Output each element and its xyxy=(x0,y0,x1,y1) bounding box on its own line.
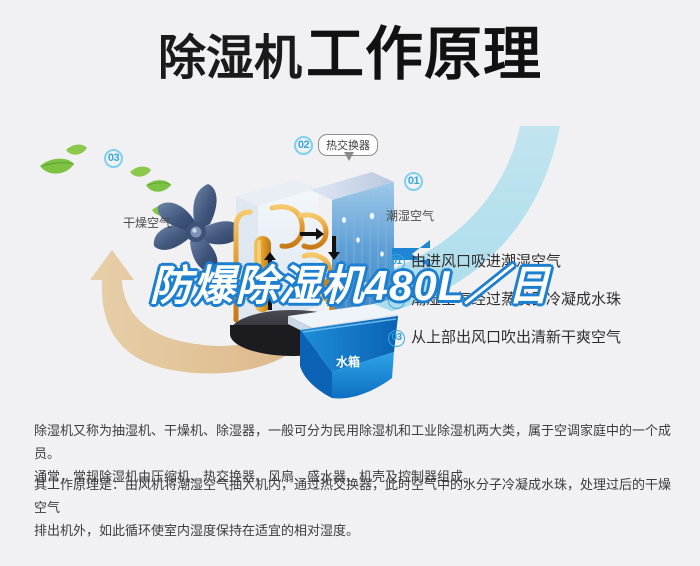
body-paragraph-2-line-1: 其工作原理是：由风机将潮湿空气抽入机内，通过热交换器，此时空气中的水分子冷凝成水… xyxy=(34,473,674,519)
step-text: 从上部出风口吹出清新干爽空气 xyxy=(411,328,621,347)
label-water-tank: 水箱 xyxy=(336,353,360,370)
product-banner-text: 防爆除湿机480L／日 xyxy=(150,262,551,310)
page-root: 除湿机工作原理 xyxy=(0,0,700,566)
badge-heat-exchanger: 02 xyxy=(294,136,313,155)
page-title: 除湿机工作原理 xyxy=(0,26,700,84)
body-paragraph-2: 其工作原理是：由风机将潮湿空气抽入机内，通过热交换器，此时空气中的水分子冷凝成水… xyxy=(34,473,674,542)
page-title-part2: 工作原理 xyxy=(306,22,542,87)
product-banner-overlay: 防爆除湿机480L／日 xyxy=(0,262,700,310)
body-paragraph-1-line-1: 除湿机又称为抽湿机、干燥机、除湿器，一般可分为民用除湿机和工业除湿机两大类，属于… xyxy=(34,419,674,465)
badge-dry-air: 03 xyxy=(104,149,123,168)
list-item: 03 从上部出风口吹出清新干爽空气 xyxy=(388,328,688,349)
step-number-badge: 03 xyxy=(388,330,405,347)
label-dry-air: 干燥空气 xyxy=(123,214,171,231)
label-humid-air: 潮湿空气 xyxy=(386,207,434,224)
callout-tail-icon xyxy=(344,152,354,161)
page-title-part1: 除湿机 xyxy=(158,32,302,85)
badge-humid-air: 01 xyxy=(404,172,423,191)
body-paragraph-2-line-2: 排出机外，如此循环使室内湿度保持在适宜的相对湿度。 xyxy=(34,519,674,542)
